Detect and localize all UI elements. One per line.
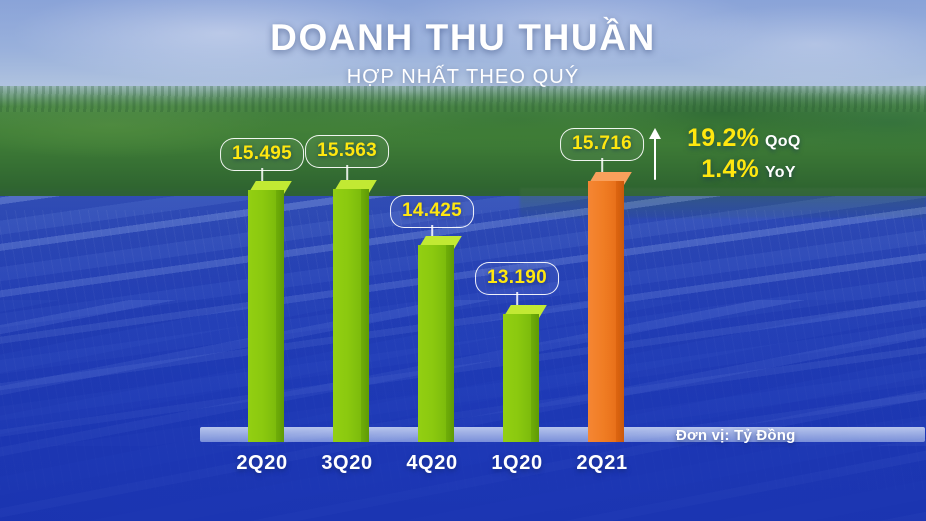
bar-4q20 [418,245,454,442]
x-axis-label-2q21: 2Q21 [576,452,627,475]
x-axis-label-4q20: 4Q20 [406,452,457,475]
value-label-4q20: 14.425 [390,195,474,228]
value-connector-1q20 [516,292,518,305]
bar-2q20 [248,190,284,442]
growth-row-yoy: 1.4% YoY [671,155,801,184]
value-connector-2q21 [601,158,603,172]
arrow-up-icon [648,128,662,180]
bar-front-face [248,190,276,442]
bar-side-face [361,189,369,442]
value-label-3q20: 15.563 [305,135,389,168]
bar-side-face [616,181,624,442]
bar-1q20 [503,314,539,442]
growth-rows: 19.2% QoQ 1.4% YoY [671,124,801,184]
bar-side-face [531,314,539,442]
growth-callout: 19.2% QoQ 1.4% YoY [648,124,801,184]
page-subtitle: HỢP NHẤT THEO QUÝ [0,63,926,91]
bar-front-face [588,181,616,442]
value-label-2q21: 15.716 [560,128,644,161]
chart-baseline [200,427,925,442]
value-label-2q20: 15.495 [220,138,304,171]
value-connector-4q20 [431,225,433,236]
value-label-1q20: 13.190 [475,262,559,295]
bar-front-face [503,314,531,442]
bar-side-face [446,245,454,442]
growth-period-yoy: YoY [765,164,796,182]
growth-value-yoy: 1.4% [671,155,759,184]
bar-front-face [418,245,446,442]
value-connector-2q20 [261,168,263,181]
growth-period-qoq: QoQ [765,133,801,151]
unit-note: Đơn vị: Tỷ Đồng [676,427,796,444]
chart-header: DOANH THU THUẦN HỢP NHẤT THEO QUÝ [0,16,926,91]
x-axis-label-3q20: 3Q20 [321,452,372,475]
growth-row-qoq: 19.2% QoQ [671,124,801,153]
bar-front-face [333,189,361,442]
bar-3q20 [333,189,369,442]
bar-2q21 [588,181,624,442]
page-title: DOANH THU THUẦN [0,16,926,60]
chart-slide: DOANH THU THUẦN HỢP NHẤT THEO QUÝ 15.495… [0,0,926,521]
value-connector-3q20 [346,165,348,180]
growth-value-qoq: 19.2% [671,124,759,153]
x-axis-label-1q20: 1Q20 [491,452,542,475]
bar-side-face [276,190,284,442]
x-axis-label-2q20: 2Q20 [236,452,287,475]
